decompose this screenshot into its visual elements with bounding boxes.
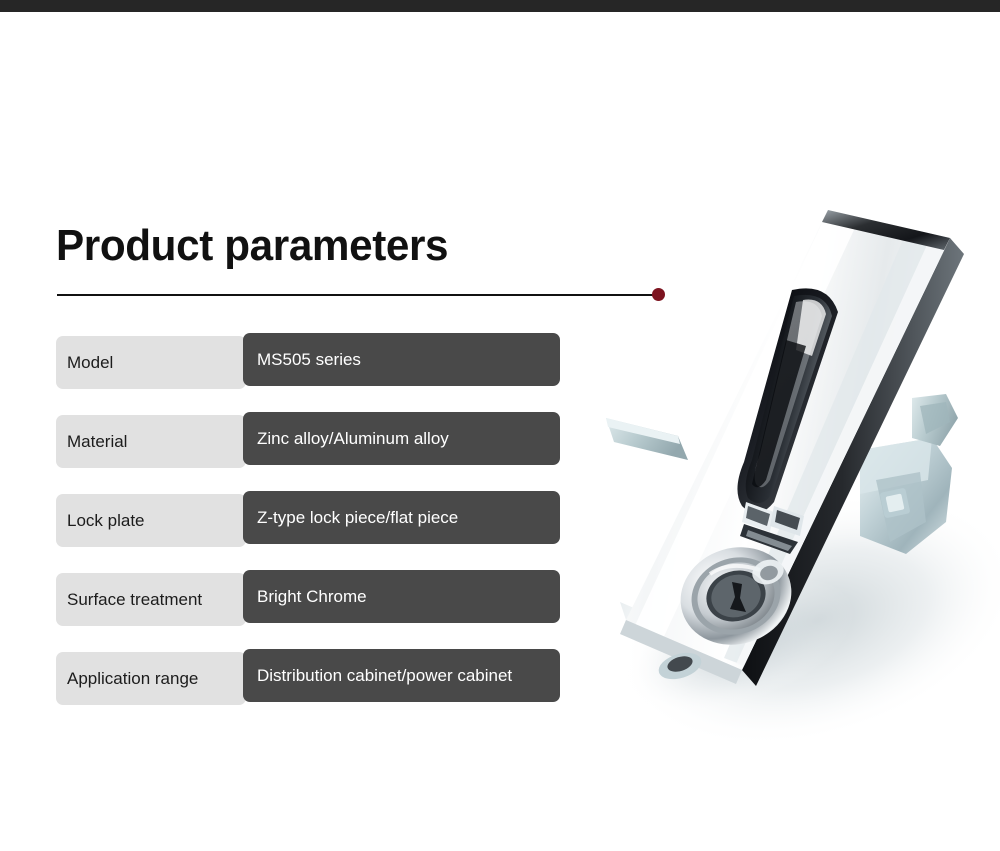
table-row: Surface treatment Bright Chrome [0, 570, 600, 626]
table-row: Lock plate Z-type lock piece/flat piece [0, 491, 600, 547]
spec-label-text: Surface treatment [67, 591, 202, 608]
cam-tongue [606, 418, 688, 460]
spec-value-cell: Z-type lock piece/flat piece [243, 491, 560, 544]
spec-value-cell: Bright Chrome [243, 570, 560, 623]
spec-value-cell: Distribution cabinet/power cabinet [243, 649, 560, 702]
spec-label-text: Model [67, 354, 113, 371]
spec-value-text: Zinc alloy/Aluminum alloy [257, 430, 449, 447]
spec-value-text: Distribution cabinet/power cabinet [257, 667, 512, 684]
spec-value-text: Z-type lock piece/flat piece [257, 509, 458, 526]
spec-label-cell: Surface treatment [56, 573, 246, 626]
spec-label-text: Material [67, 433, 127, 450]
spec-value-cell: Zinc alloy/Aluminum alloy [243, 412, 560, 465]
spec-value-cell: MS505 series [243, 333, 560, 386]
spec-label-cell: Material [56, 415, 246, 468]
table-row: Model MS505 series [0, 333, 600, 389]
spec-value-text: MS505 series [257, 351, 361, 368]
spec-label-cell: Model [56, 336, 246, 389]
spec-label-cell: Application range [56, 652, 246, 705]
product-parameters-table: Model MS505 series Material Zinc alloy/A… [0, 0, 600, 851]
spec-value-text: Bright Chrome [257, 588, 367, 605]
table-row: Application range Distribution cabinet/p… [0, 649, 600, 705]
product-photo [560, 150, 1000, 770]
spec-label-text: Lock plate [67, 512, 145, 529]
spec-label-text: Application range [67, 670, 198, 687]
spec-label-cell: Lock plate [56, 494, 246, 547]
table-row: Material Zinc alloy/Aluminum alloy [0, 412, 600, 468]
